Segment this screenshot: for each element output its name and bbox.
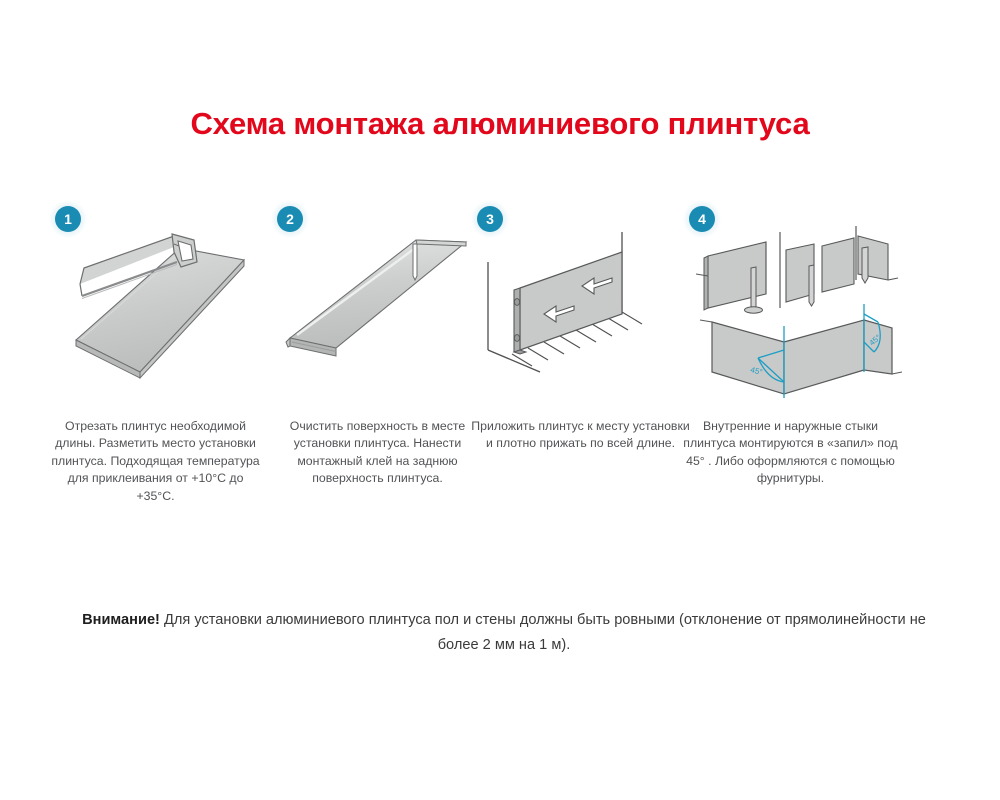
baseboard-profile-shape	[286, 240, 466, 356]
step-3: 3	[470, 196, 685, 556]
page-title: Схема монтажа алюминиевого плинтуса	[0, 106, 1000, 142]
baseboard-panel-shape	[514, 252, 622, 354]
steps-row: 1	[0, 196, 1000, 556]
step-4-caption: Внутренние и наружные стыки плинтуса мон…	[678, 418, 903, 488]
step-4: 4	[682, 196, 897, 556]
warning-note: Внимание! Для установки алюминиевого пли…	[78, 608, 930, 658]
page-title-text: Схема монтажа алюминиевого плинтуса	[190, 106, 809, 142]
corner-45-diagram: 45° 45°	[700, 304, 902, 398]
joint-fittings-diagram	[696, 226, 898, 313]
warning-note-lead: Внимание!	[82, 612, 160, 628]
step-2: 2	[270, 196, 485, 556]
step-1: 1	[48, 196, 263, 556]
step-2-illustration	[270, 222, 485, 390]
step-2-caption: Очистить поверхность в месте установки п…	[270, 418, 485, 488]
step-1-illustration	[48, 222, 263, 390]
step-3-illustration	[470, 222, 685, 390]
step-4-illustration: 45° 45°	[682, 222, 897, 390]
warning-note-body: Для установки алюминиевого плинтуса пол …	[160, 612, 926, 653]
infographic-root: Схема монтажа алюминиевого плинтуса 1	[0, 0, 1000, 800]
step-1-caption: Отрезать плинтус необходимой длины. Разм…	[48, 418, 263, 505]
step-3-caption: Приложить плинтус к месту установки и пл…	[468, 418, 693, 453]
